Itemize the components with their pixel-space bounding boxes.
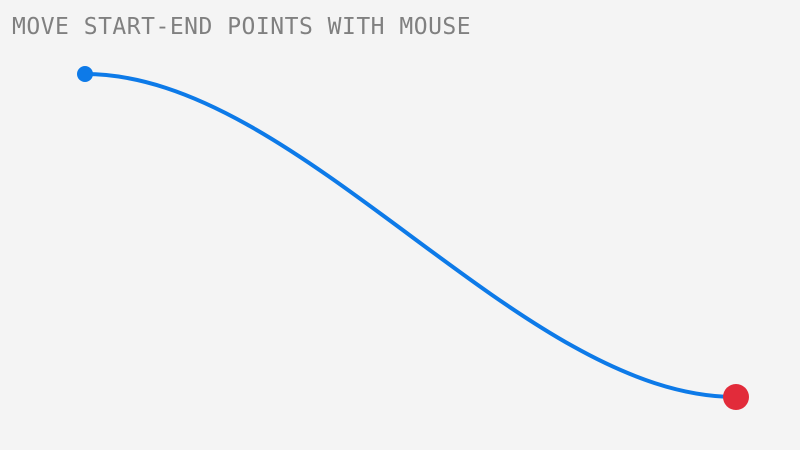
end-point-handle[interactable]: [723, 384, 749, 410]
app-canvas: MOVE START-END POINTS WITH MOUSE: [0, 0, 800, 450]
bezier-curve-path: [85, 74, 736, 397]
curve-stage[interactable]: [0, 0, 800, 450]
start-point-handle[interactable]: [77, 66, 93, 82]
